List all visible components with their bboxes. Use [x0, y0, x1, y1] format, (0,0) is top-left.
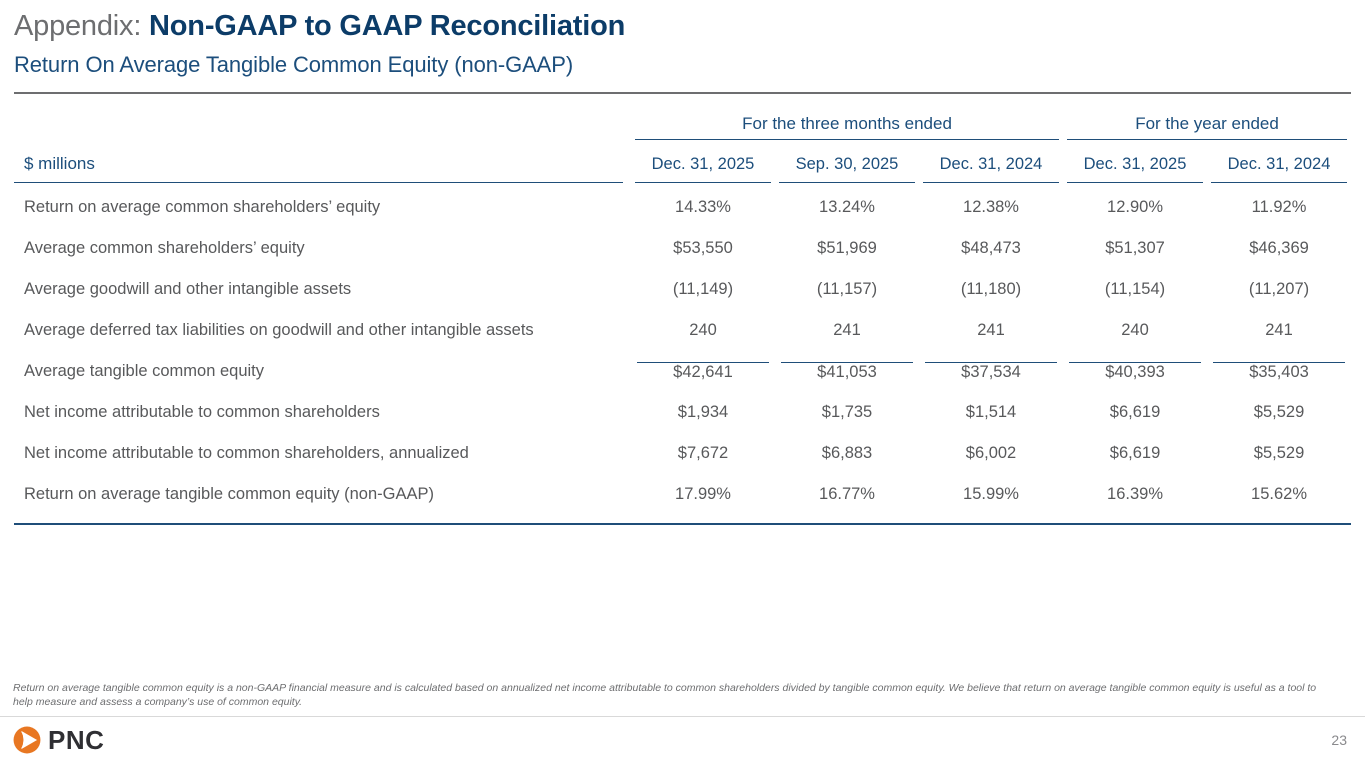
group-header-year: For the year ended — [1063, 110, 1351, 143]
table-row: Net income attributable to common shareh… — [14, 433, 1351, 474]
table-cell: (11,180) — [919, 269, 1063, 310]
table-cell: 12.38% — [919, 187, 1063, 228]
cell-value: 12.90% — [1063, 198, 1207, 217]
cell-value: 240 — [1063, 321, 1207, 340]
table-cell: (11,154) — [1063, 269, 1207, 310]
row-label: Average tangible common equity — [14, 351, 631, 392]
unit-label: $ millions — [14, 154, 623, 183]
row-label: Average deferred tax liabilities on good… — [14, 310, 631, 351]
table-cell: 15.99% — [919, 474, 1063, 515]
cell-value: (11,154) — [1063, 280, 1207, 299]
table-row: Return on average common shareholders’ e… — [14, 187, 1351, 228]
column-header-3-label: Dec. 31, 2025 — [1067, 155, 1203, 183]
cell-value: $7,672 — [631, 444, 775, 463]
group-header-three-months: For the three months ended — [631, 110, 1063, 143]
row-label: Return on average common shareholders’ e… — [14, 187, 631, 228]
table-cell: $53,550 — [631, 228, 775, 269]
table-cell: $6,619 — [1063, 392, 1207, 433]
group-header-year-label: For the year ended — [1067, 114, 1347, 140]
cell-value: $40,393 — [1069, 362, 1201, 382]
table-cell: $6,619 — [1063, 433, 1207, 474]
row-label: Net income attributable to common shareh… — [14, 392, 631, 433]
column-header-3: Dec. 31, 2025 — [1063, 143, 1207, 187]
reconciliation-table-container: For the three months ended For the year … — [14, 110, 1351, 515]
table-cell: 17.99% — [631, 474, 775, 515]
cell-value: $41,053 — [781, 362, 913, 382]
group-header-spacer — [14, 110, 631, 143]
table-cell: 241 — [775, 310, 919, 351]
table-cell: $46,369 — [1207, 228, 1351, 269]
title-main: Non-GAAP to GAAP Reconciliation — [149, 10, 625, 42]
table-cell: 12.90% — [1063, 187, 1207, 228]
table-row: Average deferred tax liabilities on good… — [14, 310, 1351, 351]
table-cell: $1,514 — [919, 392, 1063, 433]
table-cell: $42,641 — [631, 351, 775, 392]
table-cell: $35,403 — [1207, 351, 1351, 392]
table-cell: (11,157) — [775, 269, 919, 310]
table-cell: $6,002 — [919, 433, 1063, 474]
reconciliation-table: For the three months ended For the year … — [14, 110, 1351, 515]
table-cell: 241 — [1207, 310, 1351, 351]
footer-divider — [0, 716, 1365, 717]
column-header-row: $ millions Dec. 31, 2025 Sep. 30, 2025 D… — [14, 143, 1351, 187]
table-cell: $7,672 — [631, 433, 775, 474]
table-cell: $6,883 — [775, 433, 919, 474]
table-row: Average goodwill and other intangible as… — [14, 269, 1351, 310]
row-label: Average common shareholders’ equity — [14, 228, 631, 269]
unit-label-cell: $ millions — [14, 143, 631, 187]
table-cell: 13.24% — [775, 187, 919, 228]
brand-logo: PNC — [13, 726, 104, 754]
table-bottom-divider — [14, 523, 1351, 525]
slide: Appendix: Non-GAAP to GAAP Reconciliatio… — [0, 0, 1365, 768]
cell-value: $53,550 — [631, 239, 775, 258]
column-header-1: Sep. 30, 2025 — [775, 143, 919, 187]
row-label: Return on average tangible common equity… — [14, 474, 631, 515]
table-cell: 15.62% — [1207, 474, 1351, 515]
cell-value: 241 — [775, 321, 919, 340]
cell-value: (11,180) — [919, 280, 1063, 299]
cell-value: 241 — [919, 321, 1063, 340]
table-row: Return on average tangible common equity… — [14, 474, 1351, 515]
cell-value: (11,157) — [775, 280, 919, 299]
title-prefix: Appendix: — [14, 10, 141, 42]
cell-value: $46,369 — [1207, 239, 1351, 258]
table-cell: $5,529 — [1207, 433, 1351, 474]
cell-value: 15.62% — [1207, 485, 1351, 504]
table-cell: 14.33% — [631, 187, 775, 228]
cell-value: $5,529 — [1207, 444, 1351, 463]
column-header-4-label: Dec. 31, 2024 — [1211, 155, 1347, 183]
page-title: Appendix: Non-GAAP to GAAP Reconciliatio… — [14, 8, 1351, 44]
column-header-1-label: Sep. 30, 2025 — [779, 155, 915, 183]
table-cell: $51,307 — [1063, 228, 1207, 269]
table-row: Average common shareholders’ equity$53,5… — [14, 228, 1351, 269]
brand-name: PNC — [48, 726, 104, 754]
group-header-three-months-label: For the three months ended — [635, 114, 1059, 140]
slide-header: Appendix: Non-GAAP to GAAP Reconciliatio… — [14, 8, 1351, 80]
row-label: Average goodwill and other intangible as… — [14, 269, 631, 310]
column-header-2-label: Dec. 31, 2024 — [923, 155, 1059, 183]
column-header-0-label: Dec. 31, 2025 — [635, 155, 771, 183]
table-cell: (11,207) — [1207, 269, 1351, 310]
cell-value: 14.33% — [631, 198, 775, 217]
cell-value: $5,529 — [1207, 403, 1351, 422]
cell-value: 240 — [631, 321, 775, 340]
group-header-row: For the three months ended For the year … — [14, 110, 1351, 143]
cell-value: $51,307 — [1063, 239, 1207, 258]
table-cell: 11.92% — [1207, 187, 1351, 228]
table-cell: (11,149) — [631, 269, 775, 310]
table-cell: 240 — [1063, 310, 1207, 351]
column-header-2: Dec. 31, 2024 — [919, 143, 1063, 187]
cell-value: 15.99% — [919, 485, 1063, 504]
column-header-0: Dec. 31, 2025 — [631, 143, 775, 187]
table-cell: 16.39% — [1063, 474, 1207, 515]
table-cell: $5,529 — [1207, 392, 1351, 433]
column-header-4: Dec. 31, 2024 — [1207, 143, 1351, 187]
header-divider — [14, 92, 1351, 94]
cell-value: 17.99% — [631, 485, 775, 504]
cell-value: $48,473 — [919, 239, 1063, 258]
table-body: Return on average common shareholders’ e… — [14, 187, 1351, 515]
cell-value: 241 — [1207, 321, 1351, 340]
table-row: Average tangible common equity$42,641$41… — [14, 351, 1351, 392]
page-number: 23 — [1331, 732, 1347, 748]
cell-value: $42,641 — [637, 362, 769, 382]
table-cell: $48,473 — [919, 228, 1063, 269]
cell-value: 16.39% — [1063, 485, 1207, 504]
footnote: Return on average tangible common equity… — [13, 681, 1323, 709]
row-label: Net income attributable to common shareh… — [14, 433, 631, 474]
cell-value: $6,619 — [1063, 444, 1207, 463]
table-cell: $40,393 — [1063, 351, 1207, 392]
cell-value: $1,735 — [775, 403, 919, 422]
cell-value: (11,207) — [1207, 280, 1351, 299]
page-subtitle: Return On Average Tangible Common Equity… — [14, 50, 1351, 80]
table-cell: $51,969 — [775, 228, 919, 269]
cell-value: (11,149) — [631, 280, 775, 299]
cell-value: 11.92% — [1207, 198, 1351, 217]
table-row: Net income attributable to common shareh… — [14, 392, 1351, 433]
table-cell: 16.77% — [775, 474, 919, 515]
table-cell: $37,534 — [919, 351, 1063, 392]
cell-value: $37,534 — [925, 362, 1057, 382]
cell-value: $35,403 — [1213, 362, 1345, 382]
cell-value: $1,514 — [919, 403, 1063, 422]
cell-value: $51,969 — [775, 239, 919, 258]
cell-value: $1,934 — [631, 403, 775, 422]
cell-value: 12.38% — [919, 198, 1063, 217]
cell-value: 13.24% — [775, 198, 919, 217]
table-cell: 240 — [631, 310, 775, 351]
table-cell: $1,934 — [631, 392, 775, 433]
table-cell: $1,735 — [775, 392, 919, 433]
cell-value: $6,619 — [1063, 403, 1207, 422]
cell-value: $6,002 — [919, 444, 1063, 463]
table-cell: 241 — [919, 310, 1063, 351]
cell-value: $6,883 — [775, 444, 919, 463]
table-cell: $41,053 — [775, 351, 919, 392]
pnc-circle-arrow-icon — [13, 726, 41, 754]
table-head: For the three months ended For the year … — [14, 110, 1351, 187]
cell-value: 16.77% — [775, 485, 919, 504]
